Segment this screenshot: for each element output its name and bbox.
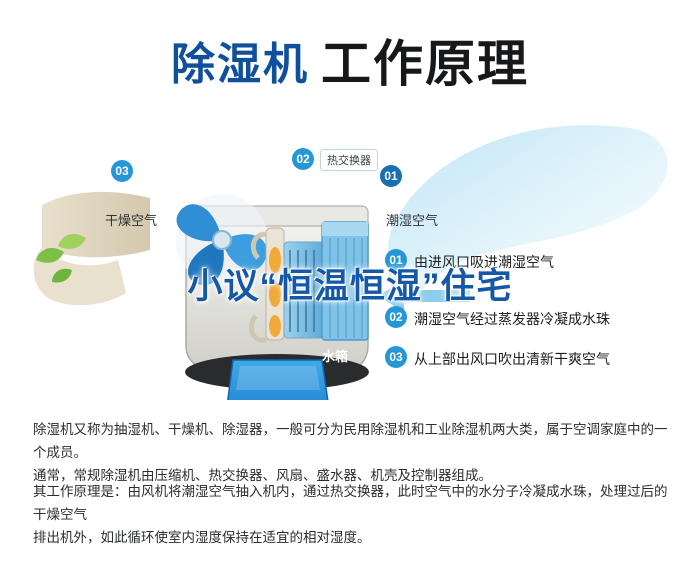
step-badge-02: 02 [292, 148, 314, 170]
dehumidifier-diagram: 03 02 01 热交换器 干燥空气 潮湿空气 水箱 01 由进风口吸进潮湿空气… [0, 110, 700, 400]
step-badge-03: 03 [111, 160, 133, 182]
body-paragraph-2: 其工作原理是：由风机将潮湿空气抽入机内，通过热交换器，此时空气中的水分子冷凝成水… [33, 480, 673, 549]
body-paragraph-1: 除湿机又称为抽湿机、干燥机、除湿器，一般可分为民用除湿机和工业除湿机两大类，属于… [33, 418, 673, 487]
overlay-headline: 小议“恒温恒湿”住宅 [0, 258, 700, 309]
body-paragraph-1-line-1: 除湿机又称为抽湿机、干燥机、除湿器，一般可分为民用除湿机和工业除湿机两大类，属于… [33, 418, 673, 464]
page-title-secondary: 工作原理 [321, 36, 529, 92]
desc-badge-02: 02 [385, 306, 407, 328]
desc-text-03: 从上部出风口吹出清新干爽空气 [414, 349, 610, 369]
desc-text-02: 潮湿空气经过蒸发器冷凝成水珠 [414, 309, 610, 329]
desc-badge-03: 03 [385, 346, 407, 368]
label-dry-air: 干燥空气 [105, 210, 157, 229]
body-paragraph-2-line-1: 其工作原理是：由风机将潮湿空气抽入机内，通过热交换器，此时空气中的水分子冷凝成水… [33, 480, 673, 526]
page-title: 除湿机工作原理 [0, 24, 700, 96]
body-paragraph-2-line-2: 排出机外，如此循环使室内湿度保持在适宜的相对湿度。 [33, 526, 673, 549]
page-root: 除湿机工作原理 [0, 0, 700, 566]
label-humid-air: 潮湿空气 [386, 210, 438, 229]
label-water-tank: 水箱 [322, 346, 348, 365]
chip-heat-exchanger: 热交换器 [320, 149, 378, 171]
page-title-primary: 除湿机 [171, 40, 309, 89]
step-badge-01: 01 [380, 165, 402, 187]
